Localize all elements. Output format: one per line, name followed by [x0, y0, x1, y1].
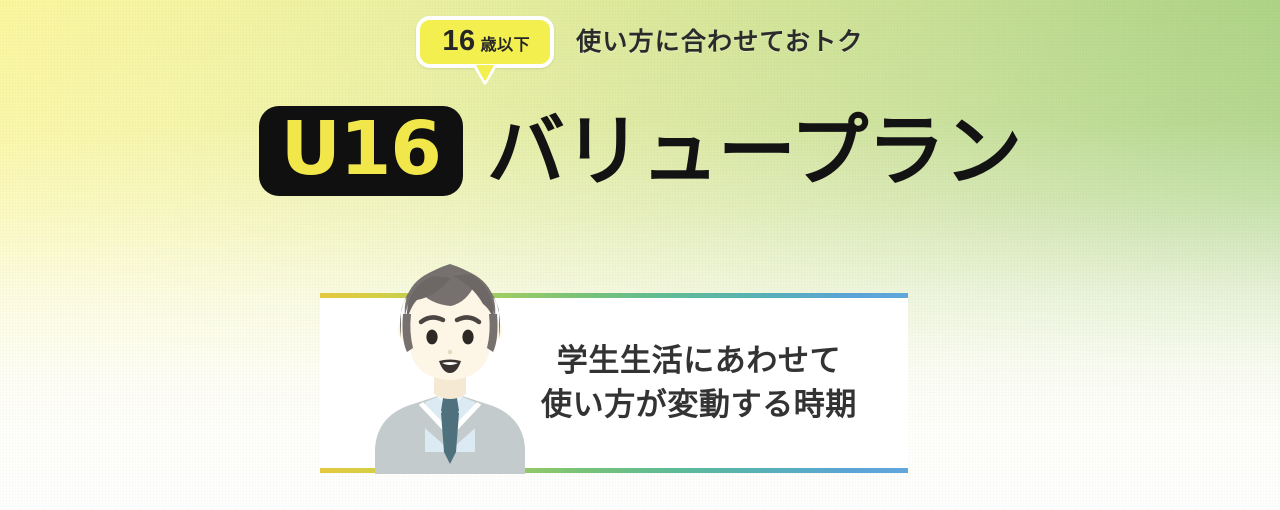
student-head — [398, 264, 502, 380]
age-badge: 16 歳以下 — [416, 16, 554, 68]
student-body — [375, 386, 525, 474]
age-badge-unit: 歳以下 — [481, 38, 531, 54]
header-tagline: 使い方に合わせておトク — [576, 30, 863, 55]
card-line-2: 使い方が変動する時期 — [518, 383, 880, 427]
speech-bubble-tail-icon — [472, 65, 498, 85]
plan-name-label: バリュープラン — [487, 112, 1021, 190]
u16-chip-label: U16 — [281, 112, 441, 186]
plan-logo: U16 バリュープラン — [0, 106, 1280, 196]
age-badge-body: 16 歳以下 — [416, 16, 554, 68]
card-text-block: 学生生活にあわせて 使い方が変動する時期 — [518, 339, 880, 427]
age-badge-number: 16 — [442, 27, 475, 56]
header-row: 16 歳以下 使い方に合わせておトク — [0, 16, 1280, 68]
card-line-1: 学生生活にあわせて — [518, 339, 880, 383]
student-boy-illustration — [355, 252, 545, 474]
u16-chip: U16 — [259, 106, 463, 196]
